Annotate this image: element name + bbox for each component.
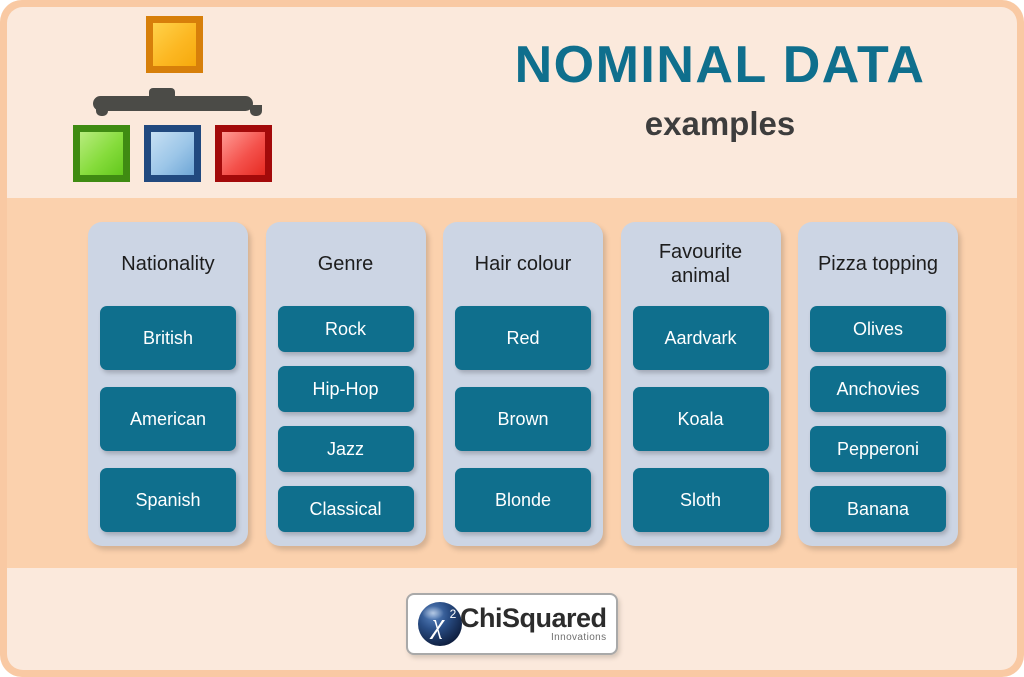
hierarchy-red-node-icon xyxy=(215,125,272,182)
category-card-favourite-animal[interactable]: Favourite animal Aardvark Koala Sloth xyxy=(621,222,781,546)
category-title: Pizza topping xyxy=(810,222,946,306)
hierarchy-leg-right-icon xyxy=(250,105,262,116)
hierarchy-blue-node-icon xyxy=(144,125,201,182)
chi-squared-sphere-icon: χ 2 xyxy=(416,600,464,648)
value-chip[interactable]: Pepperoni xyxy=(810,426,946,472)
value-chip[interactable]: Banana xyxy=(810,486,946,532)
value-chip[interactable]: Rock xyxy=(278,306,414,352)
logo-tagline: Innovations xyxy=(460,633,607,643)
svg-text:χ: χ xyxy=(429,609,445,640)
value-chip[interactable]: Spanish xyxy=(100,468,236,532)
brand-logo[interactable]: χ 2 ChiSquared Innovations xyxy=(406,593,618,655)
logo-text: ChiSquared Innovations xyxy=(460,605,607,643)
hierarchy-connector-icon xyxy=(93,96,253,111)
hierarchy-green-node-icon xyxy=(73,125,130,182)
category-card-genre[interactable]: Genre Rock Hip-Hop Jazz Classical xyxy=(266,222,426,546)
category-card-nationality[interactable]: Nationality British American Spanish xyxy=(88,222,248,546)
hierarchy-icon xyxy=(68,16,280,182)
category-values: British American Spanish xyxy=(100,306,236,532)
value-chip[interactable]: Aardvark xyxy=(633,306,769,370)
value-chip[interactable]: Anchovies xyxy=(810,366,946,412)
value-chip[interactable]: Hip-Hop xyxy=(278,366,414,412)
value-chip[interactable]: Brown xyxy=(455,387,591,451)
category-card-pizza-topping[interactable]: Pizza topping Olives Anchovies Pepperoni… xyxy=(798,222,958,546)
value-chip[interactable]: Blonde xyxy=(455,468,591,532)
page-subtitle: examples xyxy=(430,107,1010,140)
title-block: NOMINAL DATA examples xyxy=(430,38,1010,140)
category-values: Red Brown Blonde xyxy=(455,306,591,532)
poster: NOMINAL DATA examples Nationality Britis… xyxy=(0,0,1024,677)
value-chip[interactable]: Olives xyxy=(810,306,946,352)
value-chip[interactable]: British xyxy=(100,306,236,370)
value-chip[interactable]: Sloth xyxy=(633,468,769,532)
value-chip[interactable]: Red xyxy=(455,306,591,370)
value-chip[interactable]: Jazz xyxy=(278,426,414,472)
category-title: Nationality xyxy=(100,222,236,306)
category-values: Rock Hip-Hop Jazz Classical xyxy=(278,306,414,532)
category-title: Favourite animal xyxy=(633,222,769,306)
svg-text:2: 2 xyxy=(450,607,457,621)
value-chip[interactable]: American xyxy=(100,387,236,451)
category-card-hair-colour[interactable]: Hair colour Red Brown Blonde xyxy=(443,222,603,546)
category-values: Olives Anchovies Pepperoni Banana xyxy=(810,306,946,532)
hierarchy-leg-left-icon xyxy=(96,105,108,116)
category-title: Hair colour xyxy=(455,222,591,306)
category-columns: Nationality British American Spanish Gen… xyxy=(88,222,958,546)
category-values: Aardvark Koala Sloth xyxy=(633,306,769,532)
category-title: Genre xyxy=(278,222,414,306)
hierarchy-top-node-icon xyxy=(146,16,203,73)
page-title: NOMINAL DATA xyxy=(430,38,1010,93)
logo-name: ChiSquared xyxy=(460,605,607,632)
value-chip[interactable]: Classical xyxy=(278,486,414,532)
value-chip[interactable]: Koala xyxy=(633,387,769,451)
